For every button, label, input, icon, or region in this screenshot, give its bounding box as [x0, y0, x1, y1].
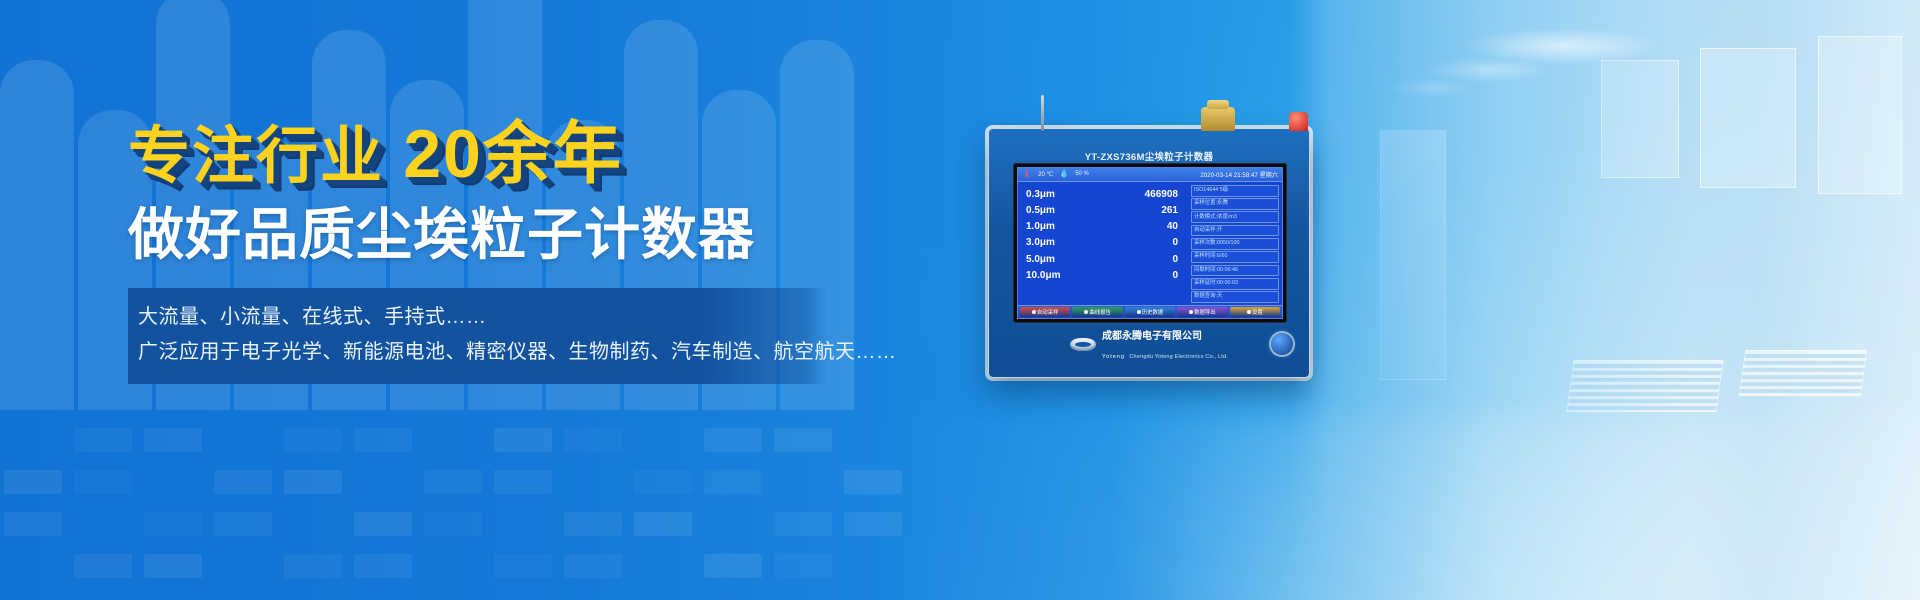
- particle-size-label: 1.0μm: [1026, 219, 1055, 235]
- particle-size-label: 0.3μm: [1026, 187, 1055, 203]
- brand-text-group: 成都永腾电子有限公司 Yoteng Chengdu Yoteng Electro…: [1102, 326, 1228, 363]
- decorative-block-pattern: [0, 400, 900, 600]
- decorative-block: [4, 470, 62, 494]
- particle-count-value: 0: [1172, 268, 1178, 284]
- decorative-block: [354, 512, 412, 536]
- decorative-block: [634, 470, 692, 494]
- brand-logo-text: Yoteng: [1102, 354, 1125, 360]
- decorative-block: [74, 470, 132, 494]
- yoteng-logo-icon: [1070, 338, 1096, 351]
- particle-count-value: 466908: [1145, 187, 1178, 203]
- decorative-block: [144, 512, 202, 536]
- decorative-block: [494, 470, 552, 494]
- brand-name-cn: 成都永腾电子有限公司: [1102, 331, 1202, 342]
- particle-size-label: 0.5μm: [1026, 203, 1055, 219]
- decorative-block: [704, 428, 762, 452]
- decorative-block: [774, 554, 832, 578]
- decorative-block: [774, 428, 832, 452]
- banner-copy: 专注行业 20余年 做好品质尘埃粒子计数器 大流量、小流量、在线式、手持式…… …: [128, 118, 888, 384]
- parameter-item[interactable]: 采样次数:0050/100: [1191, 238, 1279, 250]
- decorative-block: [424, 512, 482, 536]
- decorative-block: [564, 428, 622, 452]
- reading-row: 3.0μm0: [1026, 235, 1184, 251]
- headline-primary-number: 20余年: [403, 116, 623, 192]
- alarm-beacon-light: [1289, 112, 1308, 131]
- decorative-block: [214, 470, 272, 494]
- toolbar-button[interactable]: 自动采样: [1020, 307, 1070, 317]
- parameter-item[interactable]: 自动采样:开: [1191, 225, 1279, 237]
- parameter-item[interactable]: ISO14644 5级: [1191, 185, 1279, 197]
- parameter-item[interactable]: 间歇时间:00:06:46: [1191, 265, 1279, 277]
- toolbar-button-label: 曲线报告: [1089, 308, 1111, 316]
- device-branding: 成都永腾电子有限公司 Yoteng Chengdu Yoteng Electro…: [989, 326, 1309, 363]
- particle-readings-list: 0.3μm4669080.5μm2611.0μm403.0μm05.0μm010…: [1018, 182, 1190, 305]
- reading-row: 10.0μm0: [1026, 268, 1184, 284]
- parameter-item[interactable]: 采样延时:00:00:03: [1191, 278, 1279, 290]
- thermometer-icon: 🌡: [1022, 170, 1032, 178]
- particle-size-label: 5.0μm: [1026, 252, 1055, 268]
- decorative-block: [844, 470, 902, 494]
- toolbar-button-icon: [1032, 310, 1036, 314]
- headline-primary-text: 专注行业: [128, 122, 403, 191]
- decorative-block: [214, 512, 272, 536]
- parameter-item[interactable]: 采样位置:永腾: [1191, 198, 1279, 210]
- particle-count-value: 0: [1172, 252, 1178, 268]
- decorative-block: [844, 512, 902, 536]
- decorative-block: [704, 554, 762, 578]
- water-drop-icon: 💧: [1059, 170, 1069, 178]
- decorative-block: [494, 428, 552, 452]
- decorative-block: [564, 554, 622, 578]
- antenna: [1041, 95, 1044, 131]
- decorative-block: [494, 554, 552, 578]
- screen-status-bar: 🌡 20 ℃ 💧 50 % 2020-03-14 21:58:47 星期六: [1018, 168, 1282, 182]
- reading-row: 0.5μm261: [1026, 203, 1184, 219]
- toolbar-button[interactable]: 设置: [1230, 307, 1280, 317]
- screen-toolbar[interactable]: 自动采样曲线报告历史数据数据导出设置: [1018, 305, 1282, 318]
- decorative-bar: [0, 60, 74, 410]
- datetime-display: 2020-03-14 21:58:47 星期六: [1200, 170, 1278, 179]
- parameter-item[interactable]: 计数模式:浓度/m3: [1191, 211, 1279, 223]
- banner-stage: 专注行业 20余年 做好品质尘埃粒子计数器 大流量、小流量、在线式、手持式…… …: [0, 0, 1920, 600]
- toolbar-button-icon: [1247, 310, 1251, 314]
- decorative-block: [704, 470, 762, 494]
- subtitle-bar: 大流量、小流量、在线式、手持式…… 广泛应用于电子光学、新能源电池、精密仪器、生…: [128, 288, 828, 384]
- particle-count-value: 0: [1172, 235, 1178, 251]
- toolbar-button[interactable]: 历史数据: [1125, 307, 1175, 317]
- decorative-block: [354, 554, 412, 578]
- decorative-block: [284, 470, 342, 494]
- headline-secondary: 做好品质尘埃粒子计数器: [128, 204, 888, 266]
- brand-name-en: Chengdu Yoteng Electronics Co., Ltd.: [1129, 354, 1228, 360]
- reading-row: 0.3μm466908: [1026, 187, 1184, 203]
- parameter-item[interactable]: 数据查询:天: [1191, 291, 1279, 303]
- screen-bezel: 🌡 20 ℃ 💧 50 % 2020-03-14 21:58:47 星期六 0.…: [1013, 163, 1287, 323]
- decorative-block: [144, 428, 202, 452]
- particle-counter-device: YT-ZXS736M尘埃粒子计数器 🌡 20 ℃ 💧 50 % 2020-03-…: [988, 128, 1310, 378]
- particle-count-value: 40: [1167, 219, 1178, 235]
- device-screen[interactable]: 🌡 20 ℃ 💧 50 % 2020-03-14 21:58:47 星期六 0.…: [1017, 167, 1283, 319]
- humidity-value: 50 %: [1075, 171, 1089, 177]
- decorative-block: [74, 554, 132, 578]
- subtitle-line-2: 广泛应用于电子光学、新能源电池、精密仪器、生物制药、汽车制造、航空航天……: [138, 335, 828, 370]
- toolbar-button-label: 自动采样: [1037, 308, 1059, 316]
- toolbar-button-icon: [1084, 310, 1088, 314]
- toolbar-button-label: 设置: [1252, 308, 1263, 316]
- toolbar-button-label: 数据导出: [1194, 308, 1216, 316]
- parameter-item[interactable]: 采样时间:6/60: [1191, 251, 1279, 263]
- decorative-block: [74, 428, 132, 452]
- decorative-block: [144, 554, 202, 578]
- page-title: 专注行业 20余年: [128, 118, 888, 190]
- decorative-block: [564, 512, 622, 536]
- toolbar-button-label: 历史数据: [1142, 308, 1164, 316]
- sample-inlet-knob[interactable]: [1201, 107, 1235, 131]
- decorative-block: [354, 428, 412, 452]
- reading-row: 1.0μm40: [1026, 219, 1184, 235]
- toolbar-button[interactable]: 曲线报告: [1072, 307, 1122, 317]
- particle-size-label: 10.0μm: [1026, 268, 1060, 284]
- decorative-block: [284, 554, 342, 578]
- particle-count-value: 261: [1161, 203, 1178, 219]
- toolbar-button-icon: [1137, 310, 1141, 314]
- toolbar-button[interactable]: 数据导出: [1177, 307, 1227, 317]
- decorative-block: [634, 512, 692, 536]
- toolbar-button-icon: [1189, 310, 1193, 314]
- screen-body: 0.3μm4669080.5μm2611.0μm403.0μm05.0μm010…: [1018, 182, 1282, 305]
- particle-size-label: 3.0μm: [1026, 235, 1055, 251]
- decorative-block: [4, 512, 62, 536]
- decorative-block: [774, 512, 832, 536]
- decorative-block: [424, 470, 482, 494]
- reading-row: 5.0μm0: [1026, 252, 1184, 268]
- temperature-value: 20 ℃: [1038, 171, 1053, 178]
- power-indicator-led[interactable]: [1271, 333, 1293, 355]
- subtitle-line-1: 大流量、小流量、在线式、手持式……: [138, 300, 828, 335]
- device-model-label: YT-ZXS736M尘埃粒子计数器: [989, 129, 1309, 163]
- measurement-parameters-panel: ISO14644 5级采样位置:永腾计数模式:浓度/m3自动采样:开采样次数:0…: [1190, 182, 1282, 305]
- decorative-block: [284, 428, 342, 452]
